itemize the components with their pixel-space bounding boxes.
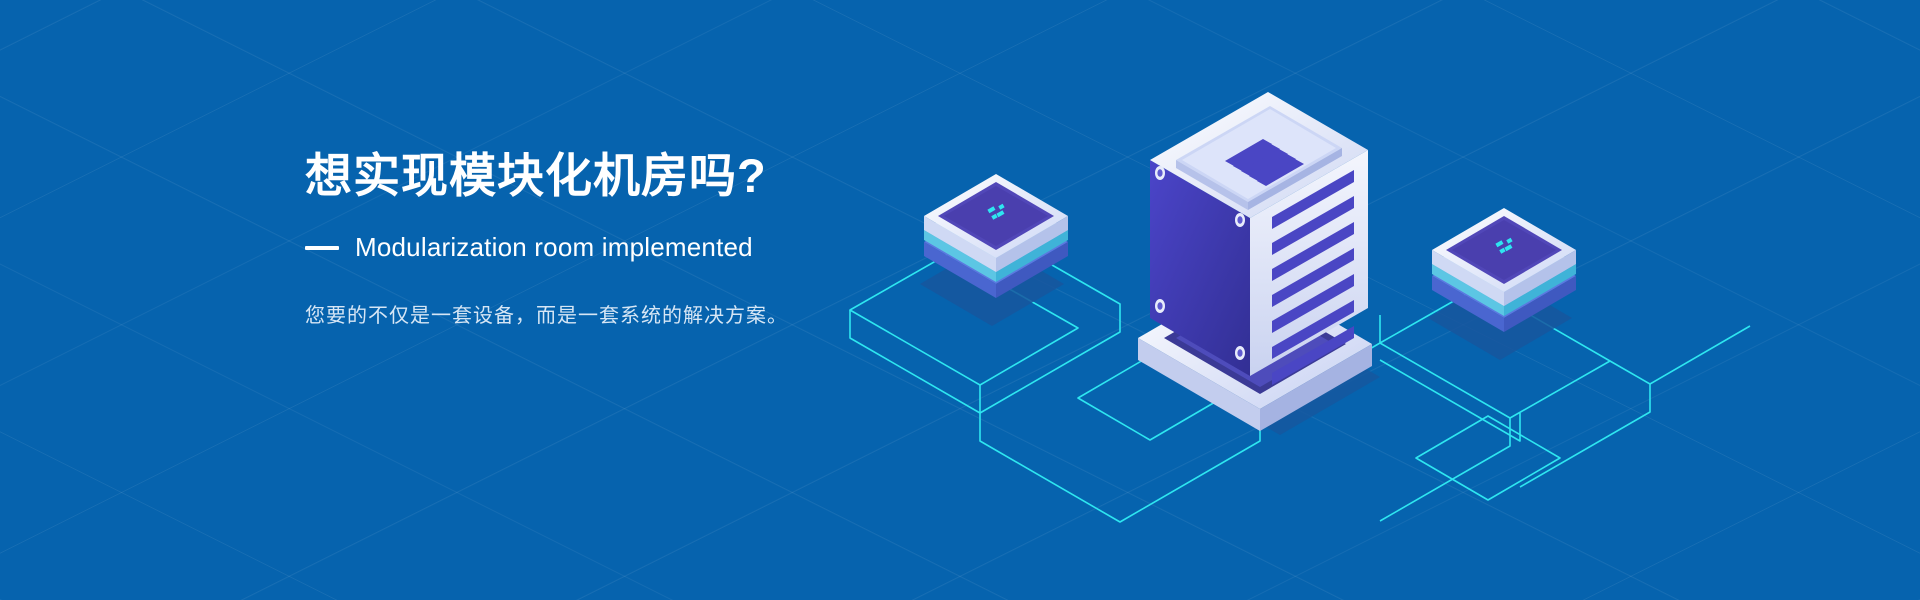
- isometric-datacenter-illustration: [820, 60, 1850, 540]
- hero-subtitle: Modularization room implemented: [355, 232, 753, 263]
- chip-module-right: [1428, 208, 1576, 360]
- hero-banner: 想实现模块化机房吗? Modularization room implement…: [0, 0, 1920, 600]
- server-tower: [1138, 92, 1380, 435]
- dash-icon: [305, 246, 339, 250]
- chip-module-left: [920, 174, 1068, 326]
